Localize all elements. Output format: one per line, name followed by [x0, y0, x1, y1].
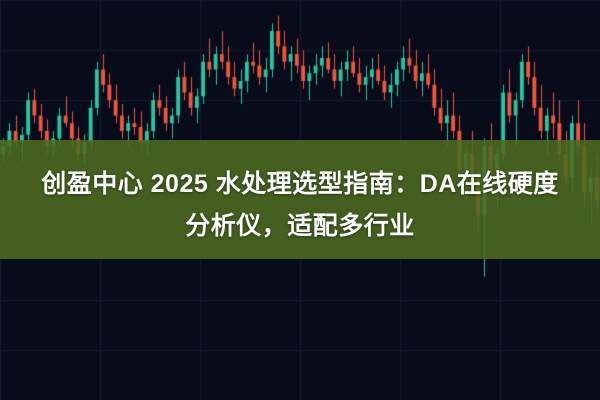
headline-line-2: 分析仪，适配多行业 — [12, 205, 588, 247]
headline-line-1: 创盈中心 2025 水处理选型指南：DA在线硬度 — [12, 163, 588, 205]
headline-text: 创盈中心 2025 水处理选型指南：DA在线硬度 分析仪，适配多行业 — [0, 163, 600, 247]
banner-stage: 创盈中心 2025 水处理选型指南：DA在线硬度 分析仪，适配多行业 — [0, 0, 600, 400]
